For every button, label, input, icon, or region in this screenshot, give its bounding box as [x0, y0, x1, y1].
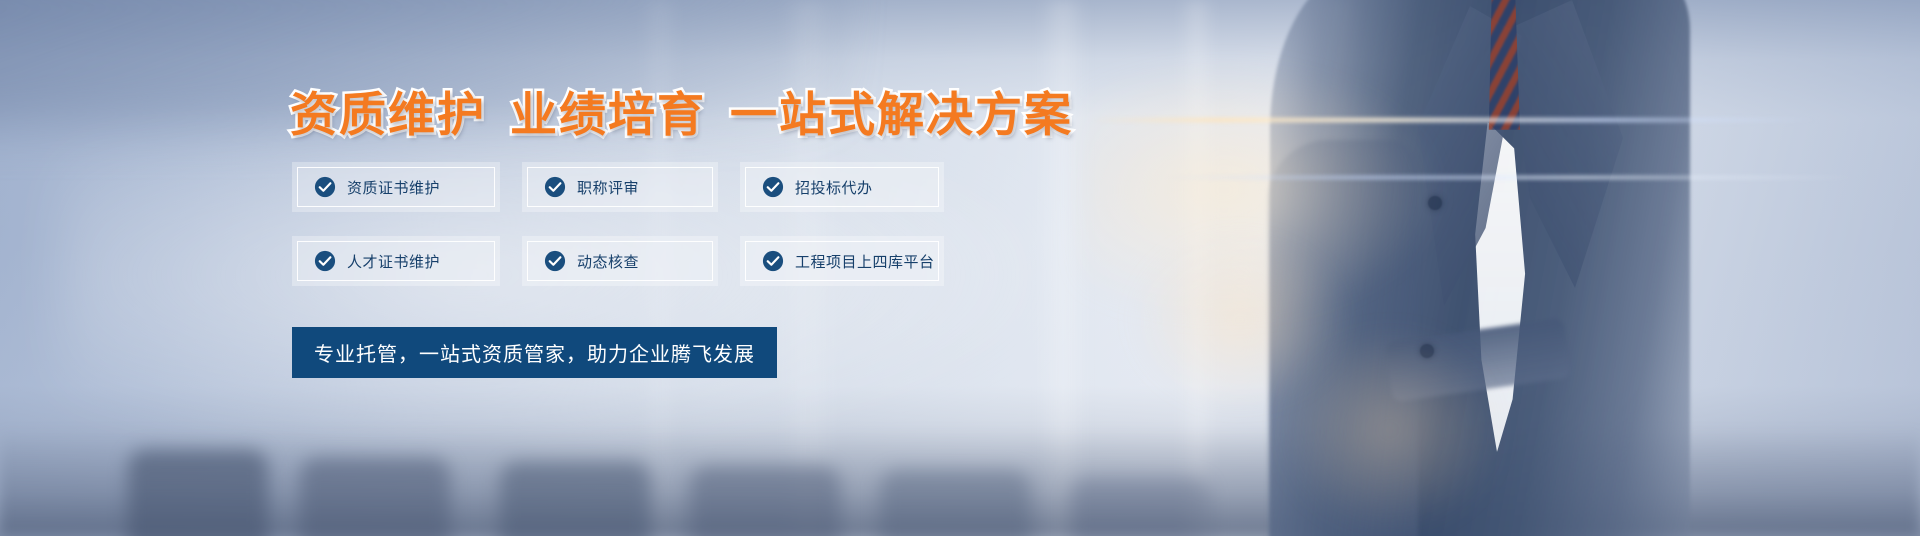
- check-circle-icon: [544, 250, 566, 272]
- feature-card-inner: 职称评审: [527, 167, 713, 207]
- feature-card-inner: 资质证书维护: [297, 167, 495, 207]
- headline: 资质维护业绩培育一站式解决方案: [290, 76, 1073, 145]
- feature-card-row: 资质证书维护 职称评审: [292, 162, 944, 212]
- feature-card-zizhi-zhengshu-weihu[interactable]: 资质证书维护: [292, 162, 500, 212]
- tagline-banner: 专业托管，一站式资质管家，助力企业腾飞发展: [292, 327, 777, 378]
- feature-card-row: 人才证书维护 动态核查: [292, 236, 944, 286]
- banner-stage: 资质维护业绩培育一站式解决方案 资质证书维护: [0, 0, 1920, 536]
- feature-card-grid: 资质证书维护 职称评审: [292, 162, 944, 310]
- feature-card-label: 动态核查: [577, 251, 639, 272]
- feature-card-label: 工程项目上四库平台: [795, 251, 935, 272]
- check-circle-icon: [762, 176, 784, 198]
- feature-card-label: 职称评审: [577, 177, 639, 198]
- headline-part-1: 资质维护: [290, 88, 486, 143]
- check-circle-icon: [314, 250, 336, 272]
- headline-part-3: 一站式解决方案: [730, 88, 1073, 143]
- check-circle-icon: [544, 176, 566, 198]
- feature-card-dongtai-hecha[interactable]: 动态核查: [522, 236, 718, 286]
- feature-card-rencai-zhengshu-weihu[interactable]: 人才证书维护: [292, 236, 500, 286]
- headline-part-2: 业绩培育: [510, 88, 706, 143]
- banner-content: 资质维护业绩培育一站式解决方案 资质证书维护: [0, 0, 1920, 536]
- feature-card-label: 资质证书维护: [347, 177, 440, 198]
- feature-card-label: 招投标代办: [795, 177, 873, 198]
- feature-card-zhaotoubiao-daiban[interactable]: 招投标代办: [740, 162, 944, 212]
- feature-card-inner: 招投标代办: [745, 167, 939, 207]
- check-circle-icon: [762, 250, 784, 272]
- feature-card-inner: 工程项目上四库平台: [745, 241, 939, 281]
- feature-card-inner: 动态核查: [527, 241, 713, 281]
- check-circle-icon: [314, 176, 336, 198]
- feature-card-zhicheng-pingshen[interactable]: 职称评审: [522, 162, 718, 212]
- feature-card-gongcheng-xiangmu-sikuping[interactable]: 工程项目上四库平台: [740, 236, 944, 286]
- feature-card-inner: 人才证书维护: [297, 241, 495, 281]
- feature-card-label: 人才证书维护: [347, 251, 440, 272]
